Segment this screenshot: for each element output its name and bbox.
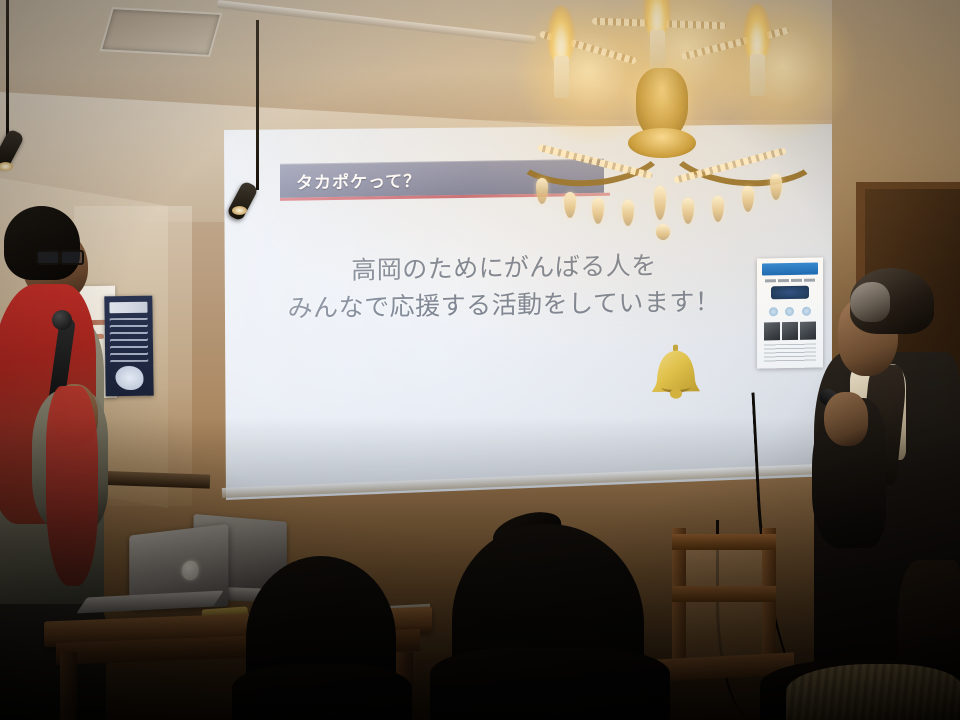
audience-member-1-shoulders	[232, 664, 412, 720]
candle	[750, 54, 765, 96]
chandelier-hub-base	[628, 128, 696, 158]
chair-back-gap	[686, 550, 762, 658]
poster-icon	[769, 307, 778, 316]
crystal-droplet	[742, 186, 754, 212]
crystal-droplet	[682, 198, 694, 224]
apple-logo-icon	[182, 560, 199, 580]
glasses-icon	[36, 250, 84, 262]
candle	[650, 30, 665, 72]
crystal-finial	[656, 224, 670, 240]
slide-title: タカポケって？	[296, 166, 421, 193]
poster-icon	[785, 306, 794, 315]
pendant-cord	[6, 0, 9, 136]
candle	[554, 56, 569, 98]
speaker-left-scarf-tail	[46, 386, 98, 586]
crystal-chandelier	[496, 0, 826, 262]
ceiling-vent-icon	[100, 7, 223, 57]
bell-icon	[648, 343, 704, 406]
crystal-bead-string	[681, 27, 789, 60]
poster-logo	[771, 286, 809, 300]
chair-mid-rail	[672, 586, 776, 602]
poster-photo	[764, 322, 780, 340]
poster-photo	[782, 322, 798, 340]
crystal-droplet	[536, 178, 548, 204]
pendant-cord	[256, 20, 259, 190]
crystal-droplet	[592, 198, 604, 224]
crystal-droplet	[564, 192, 576, 218]
knit-hat	[786, 664, 960, 720]
chair-top-rail	[672, 534, 776, 550]
crystal-droplet	[622, 200, 634, 226]
speaker-left-hair	[4, 206, 80, 280]
crystal-droplet	[712, 196, 724, 222]
audience-member-2-shoulders	[430, 648, 670, 720]
laptop-front[interactable]	[106, 530, 234, 616]
crystal-droplet	[770, 174, 782, 200]
table-leg	[60, 652, 77, 720]
spotlight-lens	[232, 206, 247, 215]
crystal-droplet	[654, 186, 666, 220]
speaker-right-grey-hair	[850, 282, 890, 322]
microphone-left-head	[52, 310, 72, 330]
presentation-room-photo: タカポケって？ 高岡のためにがんばる人を みんなで応援する活動をしています！	[0, 0, 960, 720]
